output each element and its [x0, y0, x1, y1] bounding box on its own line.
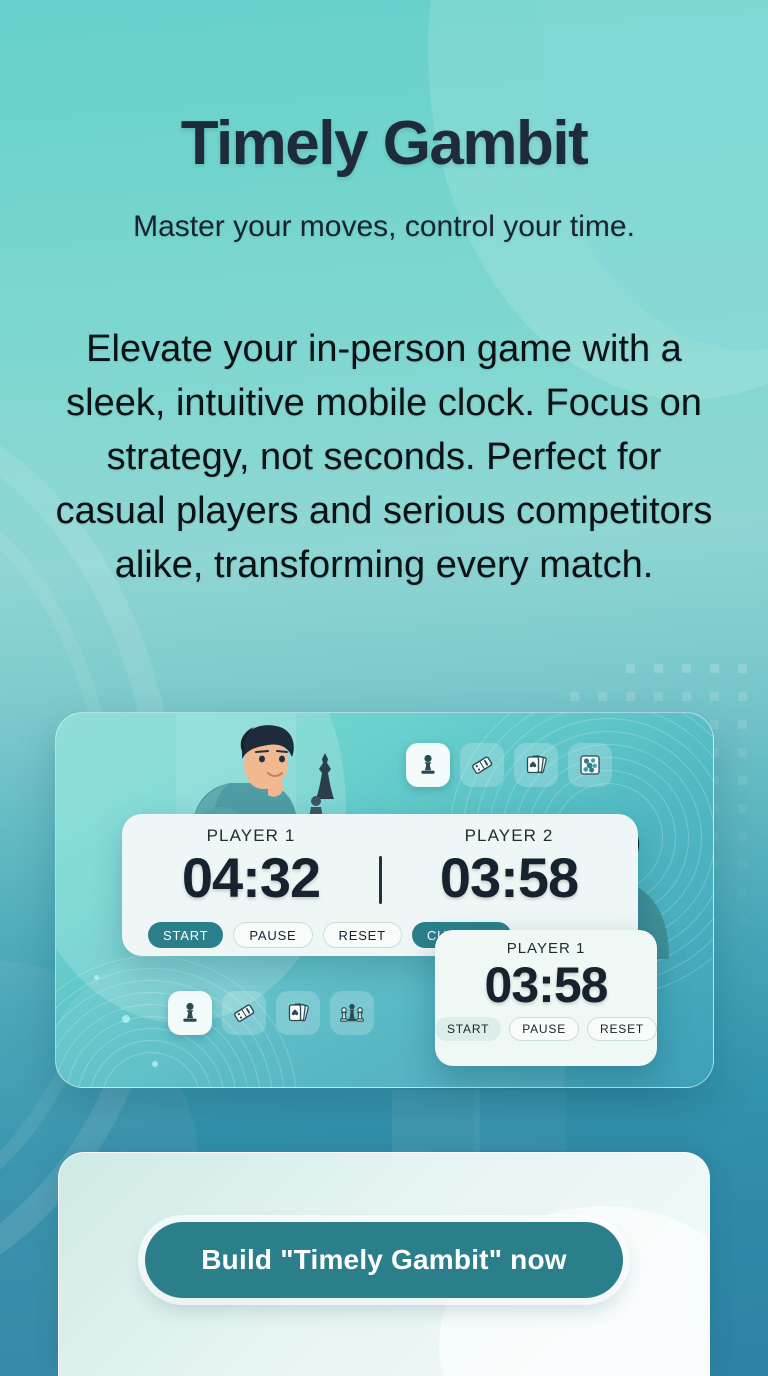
clock-readouts: PLAYER 1 04:32 PLAYER 2 03:58 [122, 814, 638, 910]
sparkle-dot [122, 1015, 130, 1023]
page-subtitle: Master your moves, control your time. [0, 210, 768, 244]
mini-player-time: 03:58 [435, 957, 657, 1013]
clock-pause-button[interactable]: PAUSE [233, 922, 312, 948]
sparkle-dot [152, 1061, 158, 1067]
page-title: Timely Gambit [0, 108, 768, 179]
mini-clock-start-button[interactable]: START [435, 1017, 501, 1041]
clock-divider [379, 856, 382, 904]
bg-vertical-band-2 [474, 1090, 566, 1150]
player-one-time: 04:32 [122, 846, 380, 910]
clock-start-button[interactable]: START [148, 922, 223, 948]
dice-board-icon[interactable] [568, 743, 612, 787]
mini-player-label: PLAYER 1 [435, 930, 657, 957]
clock-card-overlay: PLAYER 1 03:58 STARTPAUSERESET [435, 930, 657, 1066]
player-one-panel[interactable]: PLAYER 1 04:32 [122, 814, 380, 910]
sparkle-dot [94, 975, 99, 980]
game-type-tabs-top[interactable] [406, 743, 612, 787]
player-one-label: PLAYER 1 [122, 826, 380, 846]
mini-clock-controls[interactable]: STARTPAUSERESET [435, 1017, 657, 1041]
build-app-button[interactable]: Build "Timely Gambit" now [145, 1222, 623, 1298]
game-type-tabs-bottom[interactable] [168, 991, 374, 1035]
playing-cards-icon[interactable] [276, 991, 320, 1035]
mini-clock-reset-button[interactable]: RESET [587, 1017, 657, 1041]
domino-icon[interactable] [222, 991, 266, 1035]
mini-clock-pause-button[interactable]: PAUSE [509, 1017, 579, 1041]
chess-pawn-icon[interactable] [168, 991, 212, 1035]
promo-page: Timely Gambit Master your moves, control… [0, 0, 768, 1376]
page-body-copy: Elevate your in-person game with a sleek… [50, 322, 718, 592]
domino-icon[interactable] [460, 743, 504, 787]
chess-pieces-icon[interactable] [330, 991, 374, 1035]
player-two-time: 03:58 [380, 846, 638, 910]
player-two-label: PLAYER 2 [380, 826, 638, 846]
player-two-panel[interactable]: PLAYER 2 03:58 [380, 814, 638, 910]
playing-cards-icon[interactable] [514, 743, 558, 787]
chess-pawn-icon[interactable] [406, 743, 450, 787]
clock-reset-button[interactable]: RESET [323, 922, 402, 948]
